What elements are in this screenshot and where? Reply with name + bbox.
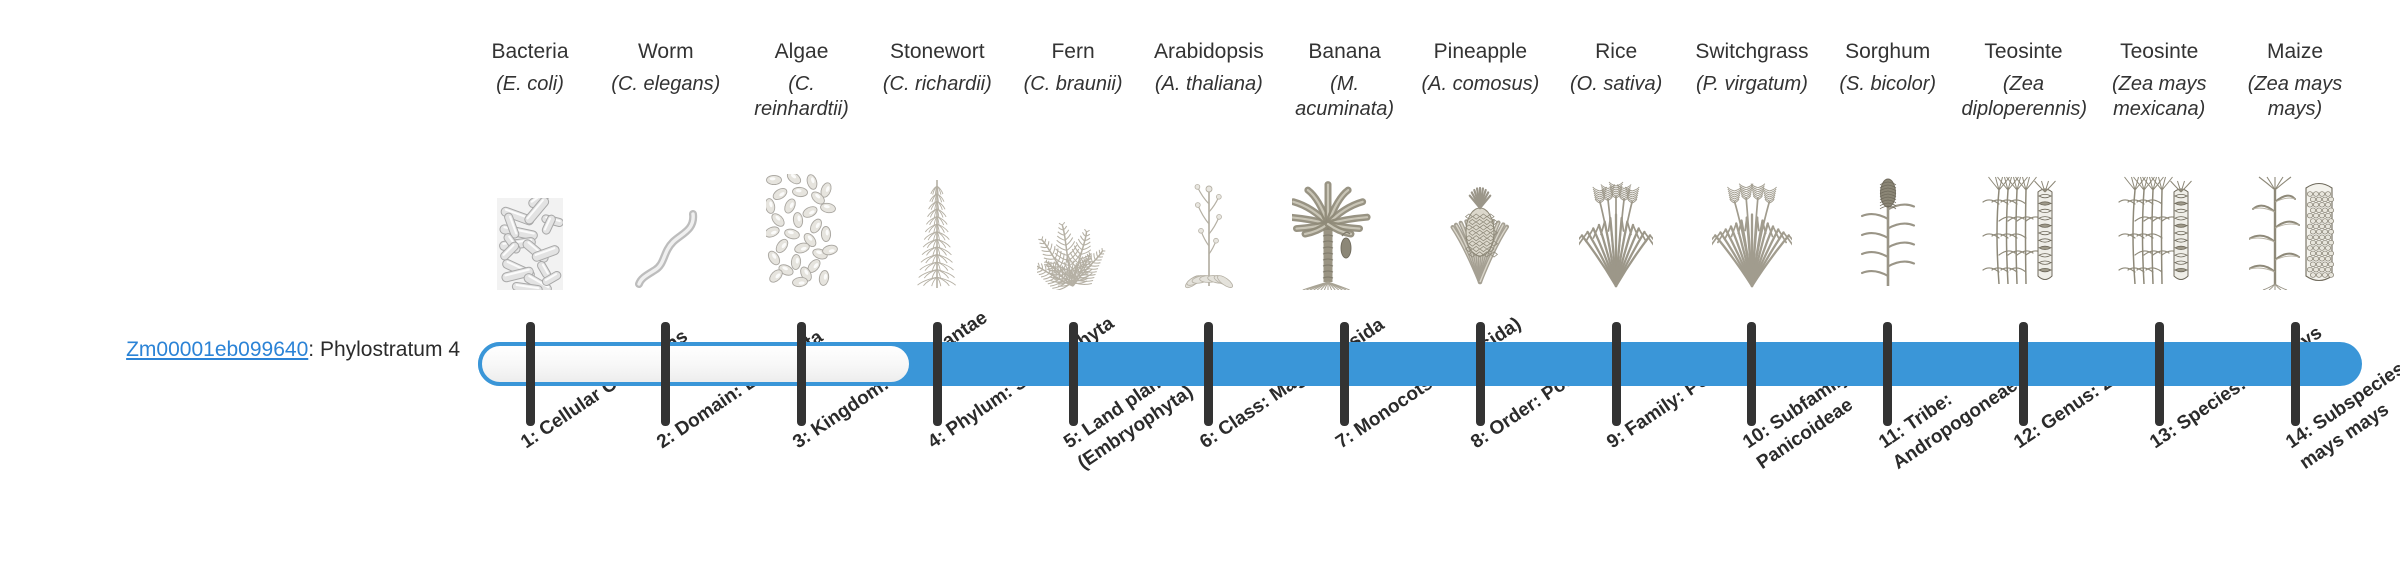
- switchgrass-illustration: [1690, 166, 1814, 290]
- teosinte-plant-and-ear-illustration: [1961, 166, 2085, 290]
- phylostratum-tick[interactable]: [1340, 322, 1349, 426]
- algae-cells-illustration: [740, 166, 864, 290]
- species-column: Rice(O. sativa): [1554, 0, 1678, 580]
- arabidopsis-rosette-illustration: [1147, 166, 1271, 290]
- phylostratum-tick[interactable]: [526, 322, 535, 426]
- bacteria-rods-illustration: [468, 166, 592, 290]
- gene-phylostratum-label: Zm00001eb099640: Phylostratum 4: [40, 338, 460, 362]
- rice-grass-illustration: [1554, 166, 1678, 290]
- species-column: Maize(Zea mays mays): [2233, 0, 2357, 580]
- species-common-name: Banana: [1283, 40, 1407, 64]
- phylostratum-value: Phylostratum 4: [320, 338, 460, 361]
- phylostratum-tick[interactable]: [933, 322, 942, 426]
- species-column: Sorghum(S. bicolor): [1826, 0, 1950, 580]
- phylostratum-tick[interactable]: [661, 322, 670, 426]
- phylostratum-tick[interactable]: [2155, 322, 2164, 426]
- pineapple-plant-illustration: [1418, 166, 1542, 290]
- species-scientific-name: (C. elegans): [604, 72, 728, 97]
- species-scientific-name: (A. comosus): [1418, 72, 1542, 97]
- phylostratum-tick[interactable]: [797, 322, 806, 426]
- species-column: Worm(C. elegans): [604, 0, 728, 580]
- species-scientific-name: (M. acuminata): [1283, 72, 1407, 122]
- phylostratum-tick[interactable]: [1069, 322, 1078, 426]
- gene-separator: :: [308, 338, 320, 361]
- phylostratum-tick[interactable]: [1747, 322, 1756, 426]
- species-common-name: Pineapple: [1418, 40, 1542, 64]
- stonewort-alga-illustration: [875, 166, 999, 290]
- species-scientific-name: (Zea mays mexicana): [2097, 72, 2221, 122]
- phylostratigraphy-timeline: Zm00001eb099640: Phylostratum 4 Bacteria…: [0, 0, 2400, 580]
- species-scientific-name: (C. reinhardtii): [740, 72, 864, 122]
- species-column: Bacteria(E. coli): [468, 0, 592, 580]
- species-scientific-name: (O. sativa): [1554, 72, 1678, 97]
- phylostratum-tick[interactable]: [1612, 322, 1621, 426]
- phylostratum-tick[interactable]: [1883, 322, 1892, 426]
- species-column: Fern(C. braunii): [1011, 0, 1135, 580]
- fern-frond-illustration: [1011, 166, 1135, 290]
- species-common-name: Algae: [740, 40, 864, 64]
- gene-id-link[interactable]: Zm00001eb099640: [126, 338, 308, 361]
- species-column: Switchgrass(P. virgatum): [1690, 0, 1814, 580]
- banana-plant-illustration: [1283, 166, 1407, 290]
- species-common-name: Sorghum: [1826, 40, 1950, 64]
- species-common-name: Maize: [2233, 40, 2357, 64]
- species-common-name: Switchgrass: [1690, 40, 1814, 64]
- phylostratum-tick[interactable]: [1476, 322, 1485, 426]
- species-column: Banana(M. acuminata): [1283, 0, 1407, 580]
- species-common-name: Rice: [1554, 40, 1678, 64]
- species-common-name: Teosinte: [1961, 40, 2085, 64]
- species-scientific-name: (E. coli): [468, 72, 592, 97]
- phylostratum-tick[interactable]: [1204, 322, 1213, 426]
- species-common-name: Teosinte: [2097, 40, 2221, 64]
- species-columns: Bacteria(E. coli)1: Cellular OrganismsWo…: [478, 0, 2360, 580]
- species-column: Pineapple(A. comosus): [1418, 0, 1542, 580]
- species-column: Arabidopsis(A. thaliana): [1147, 0, 1271, 580]
- nematode-worm-illustration: [604, 166, 728, 290]
- phylostratum-tick[interactable]: [2019, 322, 2028, 426]
- species-common-name: Bacteria: [468, 40, 592, 64]
- species-common-name: Worm: [604, 40, 728, 64]
- teosinte-plant-and-ear-illustration: [2097, 166, 2221, 290]
- sorghum-plant-illustration: [1826, 166, 1950, 290]
- species-scientific-name: (S. bicolor): [1826, 72, 1950, 97]
- species-scientific-name: (P. virgatum): [1690, 72, 1814, 97]
- species-common-name: Fern: [1011, 40, 1135, 64]
- maize-plant-and-ear-illustration: [2233, 166, 2357, 290]
- phylostratum-progress-unfilled: [478, 342, 913, 386]
- species-scientific-name: (Zea diploperennis): [1961, 72, 2085, 122]
- species-column: Teosinte(Zea mays mexicana): [2097, 0, 2221, 580]
- species-scientific-name: (C. braunii): [1011, 72, 1135, 97]
- species-scientific-name: (Zea mays mays): [2233, 72, 2357, 122]
- species-common-name: Arabidopsis: [1147, 40, 1271, 64]
- species-column: Teosinte(Zea diploperennis): [1961, 0, 2085, 580]
- species-scientific-name: (C. richardii): [875, 72, 999, 97]
- species-column: Stonewort(C. richardii): [875, 0, 999, 580]
- species-column: Algae(C. reinhardtii): [740, 0, 864, 580]
- species-scientific-name: (A. thaliana): [1147, 72, 1271, 97]
- species-common-name: Stonewort: [875, 40, 999, 64]
- phylostratum-tick[interactable]: [2291, 322, 2300, 426]
